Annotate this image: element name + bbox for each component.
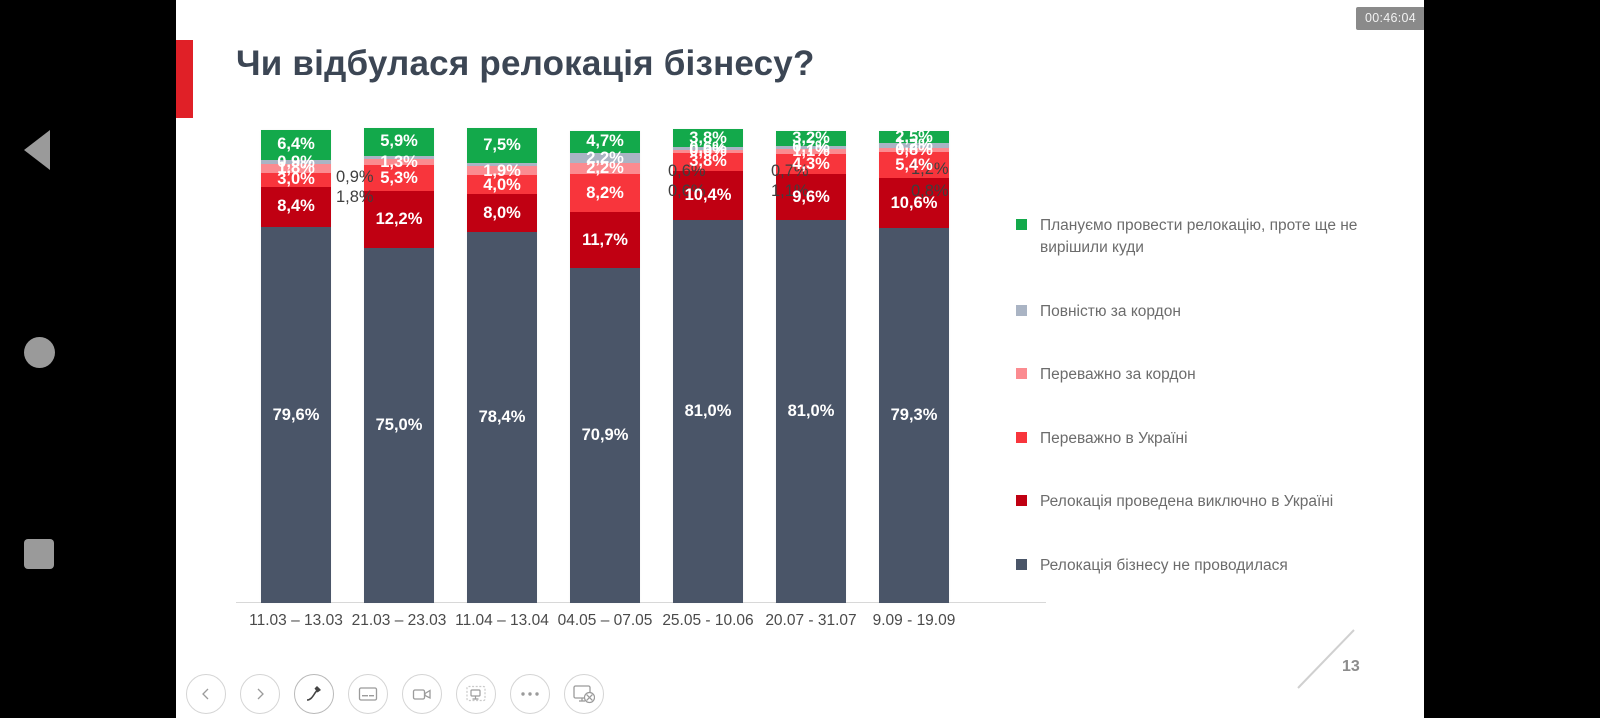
legend-swatch-icon — [1016, 305, 1027, 316]
bar-segment[interactable]: 3,8% — [673, 129, 743, 147]
pen-icon — [304, 684, 324, 704]
square-icon[interactable] — [24, 539, 54, 569]
bar-segment-label: 9,6% — [792, 189, 830, 206]
bar-segment-label: 8,0% — [483, 205, 521, 222]
outside-label-mostly-abroad: 1,8% — [336, 188, 374, 207]
legend-item[interactable]: Плануємо провести релокацію, проте ще не… — [1016, 215, 1406, 260]
bar-segment-label: 12,2% — [376, 211, 423, 228]
bar-segment-label: 3,2% — [792, 130, 830, 147]
bar-segment[interactable]: 8,4% — [261, 187, 331, 227]
stacked-bar[interactable]: 78,4%8,0%4,0%1,9%7,5% — [467, 128, 537, 603]
bar-segment-label: 5,4% — [895, 157, 933, 174]
legend-item[interactable]: Релокація проведена виключно в Україні — [1016, 491, 1406, 513]
legend-item-label: Повністю за кордон — [1040, 303, 1181, 320]
chevron-left-icon — [198, 686, 214, 702]
stacked-bar[interactable]: 75,0%12,2%5,3%1,3%5,9% — [364, 128, 434, 603]
bar-segment-label: 5,9% — [380, 133, 418, 150]
bar-segment[interactable]: 75,0% — [364, 248, 434, 603]
legend-item-label: Плануємо провести релокацію, проте ще не… — [1040, 217, 1357, 256]
subtitles-button[interactable] — [348, 674, 388, 714]
video-camera-icon — [412, 686, 432, 702]
bar-segment-label: 10,6% — [891, 195, 938, 212]
bar-segment[interactable]: 81,0% — [776, 220, 846, 603]
stacked-bar[interactable]: 79,6%8,4%3,0%1,8%0,9%6,4% — [261, 130, 331, 603]
legend-item-label: Переважно в Україні — [1040, 430, 1188, 447]
bar-segment[interactable]: 1,9% — [467, 166, 537, 175]
bar-segment-label: 1,3% — [380, 154, 418, 171]
stacked-bar-chart: 79,6%8,4%3,0%1,8%0,9%6,4%11.03 – 13.0375… — [236, 130, 1046, 640]
bar-segment[interactable]: 4,7% — [570, 131, 640, 153]
slide-number: 13 — [1342, 658, 1360, 676]
right-letterbox — [1424, 0, 1600, 718]
bar-segment[interactable]: 7,5% — [467, 128, 537, 163]
bar-segment-label: 7,5% — [483, 137, 521, 154]
bar-segment-label: 70,9% — [582, 427, 629, 444]
legend-item[interactable]: Повністю за кордон — [1016, 301, 1406, 323]
android-navigation-rail — [0, 0, 176, 718]
bar-segment[interactable]: 79,6% — [261, 227, 331, 604]
bar-segment-label: 11,7% — [582, 232, 628, 249]
outside-label-fully-abroad: 0,9% — [336, 168, 374, 187]
bar-segment[interactable]: 5,9% — [364, 128, 434, 156]
legend-item-label: Переважно за кордон — [1040, 366, 1196, 383]
bar-segment-label: 5,3% — [380, 170, 418, 187]
bar-segment-label: 6,4% — [277, 136, 315, 153]
bar-segment-label: 79,6% — [273, 407, 320, 424]
previous-slide-button[interactable] — [186, 674, 226, 714]
presenter-view-icon — [466, 685, 486, 703]
legend-swatch-icon — [1016, 219, 1027, 230]
bar-segment-label: 81,0% — [788, 403, 835, 420]
legend-swatch-icon — [1016, 559, 1027, 570]
more-options-button[interactable] — [510, 674, 550, 714]
video-button[interactable] — [402, 674, 442, 714]
bar-segment[interactable]: 78,4% — [467, 232, 537, 603]
session-timer: 00:46:04 — [1356, 7, 1424, 30]
bar-segment-label: 8,2% — [586, 185, 624, 202]
bar-segment-label: 75,0% — [376, 417, 423, 434]
bar-segment-label: 10,4% — [685, 187, 732, 204]
legend-item-label: Релокація проведена виключно в Україні — [1040, 493, 1333, 510]
chart-plot-area: 79,6%8,4%3,0%1,8%0,9%6,4%11.03 – 13.0375… — [236, 130, 1046, 630]
bar-segment[interactable]: 81,0% — [673, 220, 743, 603]
ellipsis-icon — [519, 690, 541, 698]
title-accent-bar — [176, 40, 193, 118]
legend-item-label: Релокація бізнесу не проводилася — [1040, 557, 1288, 574]
bar-segment-label: 3,8% — [689, 130, 727, 147]
bar-segment[interactable]: 12,2% — [364, 191, 434, 249]
stacked-bar[interactable]: 79,3%10,6%5,4%0,8%1,2%2,5% — [879, 131, 949, 603]
bar-segment[interactable]: 3,2% — [776, 131, 846, 146]
page-title: Чи відбулася релокація бізнесу? — [236, 44, 815, 84]
bar-segment-label: 1,9% — [483, 163, 521, 180]
triangle-left-icon[interactable] — [24, 130, 50, 170]
bar-segment-label: 8,4% — [277, 198, 315, 215]
presenter-view-button[interactable] — [456, 674, 496, 714]
bar-segment[interactable]: 1,3% — [364, 159, 434, 165]
bar-segment-label: 2,5% — [895, 129, 933, 146]
circle-icon[interactable] — [24, 337, 55, 368]
bar-segment[interactable]: 11,7% — [570, 212, 640, 267]
chart-legend: Плануємо провести релокацію, проте ще не… — [1016, 215, 1406, 618]
x-axis-label: 9.09 - 19.09 — [849, 612, 979, 630]
bar-segment[interactable]: 8,2% — [570, 174, 640, 213]
bar-segment[interactable]: 0,9% — [261, 160, 331, 164]
subtitles-icon — [358, 686, 378, 702]
legend-swatch-icon — [1016, 495, 1027, 506]
stop-screen-share-icon — [573, 684, 595, 704]
bar-segment[interactable]: 8,0% — [467, 194, 537, 232]
bar-segment-label: 78,4% — [479, 409, 526, 426]
bar-segment-label: 81,0% — [685, 403, 732, 420]
chevron-right-icon — [252, 686, 268, 702]
legend-item[interactable]: Релокація бізнесу не проводилася — [1016, 555, 1406, 577]
legend-item[interactable]: Переважно за кордон — [1016, 364, 1406, 386]
bar-segment[interactable]: 2,2% — [570, 153, 640, 163]
stop-share-button[interactable] — [564, 674, 604, 714]
legend-item[interactable]: Переважно в Україні — [1016, 428, 1406, 450]
stacked-bar[interactable]: 81,0%9,6%4,3%1,1%0,7%3,2% — [776, 131, 846, 603]
legend-swatch-icon — [1016, 368, 1027, 379]
bar-segment[interactable]: 79,3% — [879, 228, 949, 603]
presentation-toolbar — [186, 674, 604, 714]
bar-segment[interactable]: 70,9% — [570, 268, 640, 603]
bar-segment-label: 0,9% — [277, 154, 315, 171]
bar-segment-label: 79,3% — [891, 407, 938, 424]
bar-segment[interactable]: 2,5% — [879, 131, 949, 143]
pen-tool-button[interactable] — [294, 674, 334, 714]
bar-segment-label: 2,2% — [586, 150, 624, 167]
bar-segment[interactable]: 0,6% — [673, 147, 743, 150]
next-slide-button[interactable] — [240, 674, 280, 714]
stacked-bar[interactable]: 70,9%11,7%8,2%2,2%2,2%4,7% — [570, 131, 640, 603]
bar-segment-label: 4,7% — [586, 133, 624, 150]
presentation-slide: Чи відбулася релокація бізнесу? 00:46:04… — [176, 0, 1424, 718]
legend-swatch-icon — [1016, 432, 1027, 443]
